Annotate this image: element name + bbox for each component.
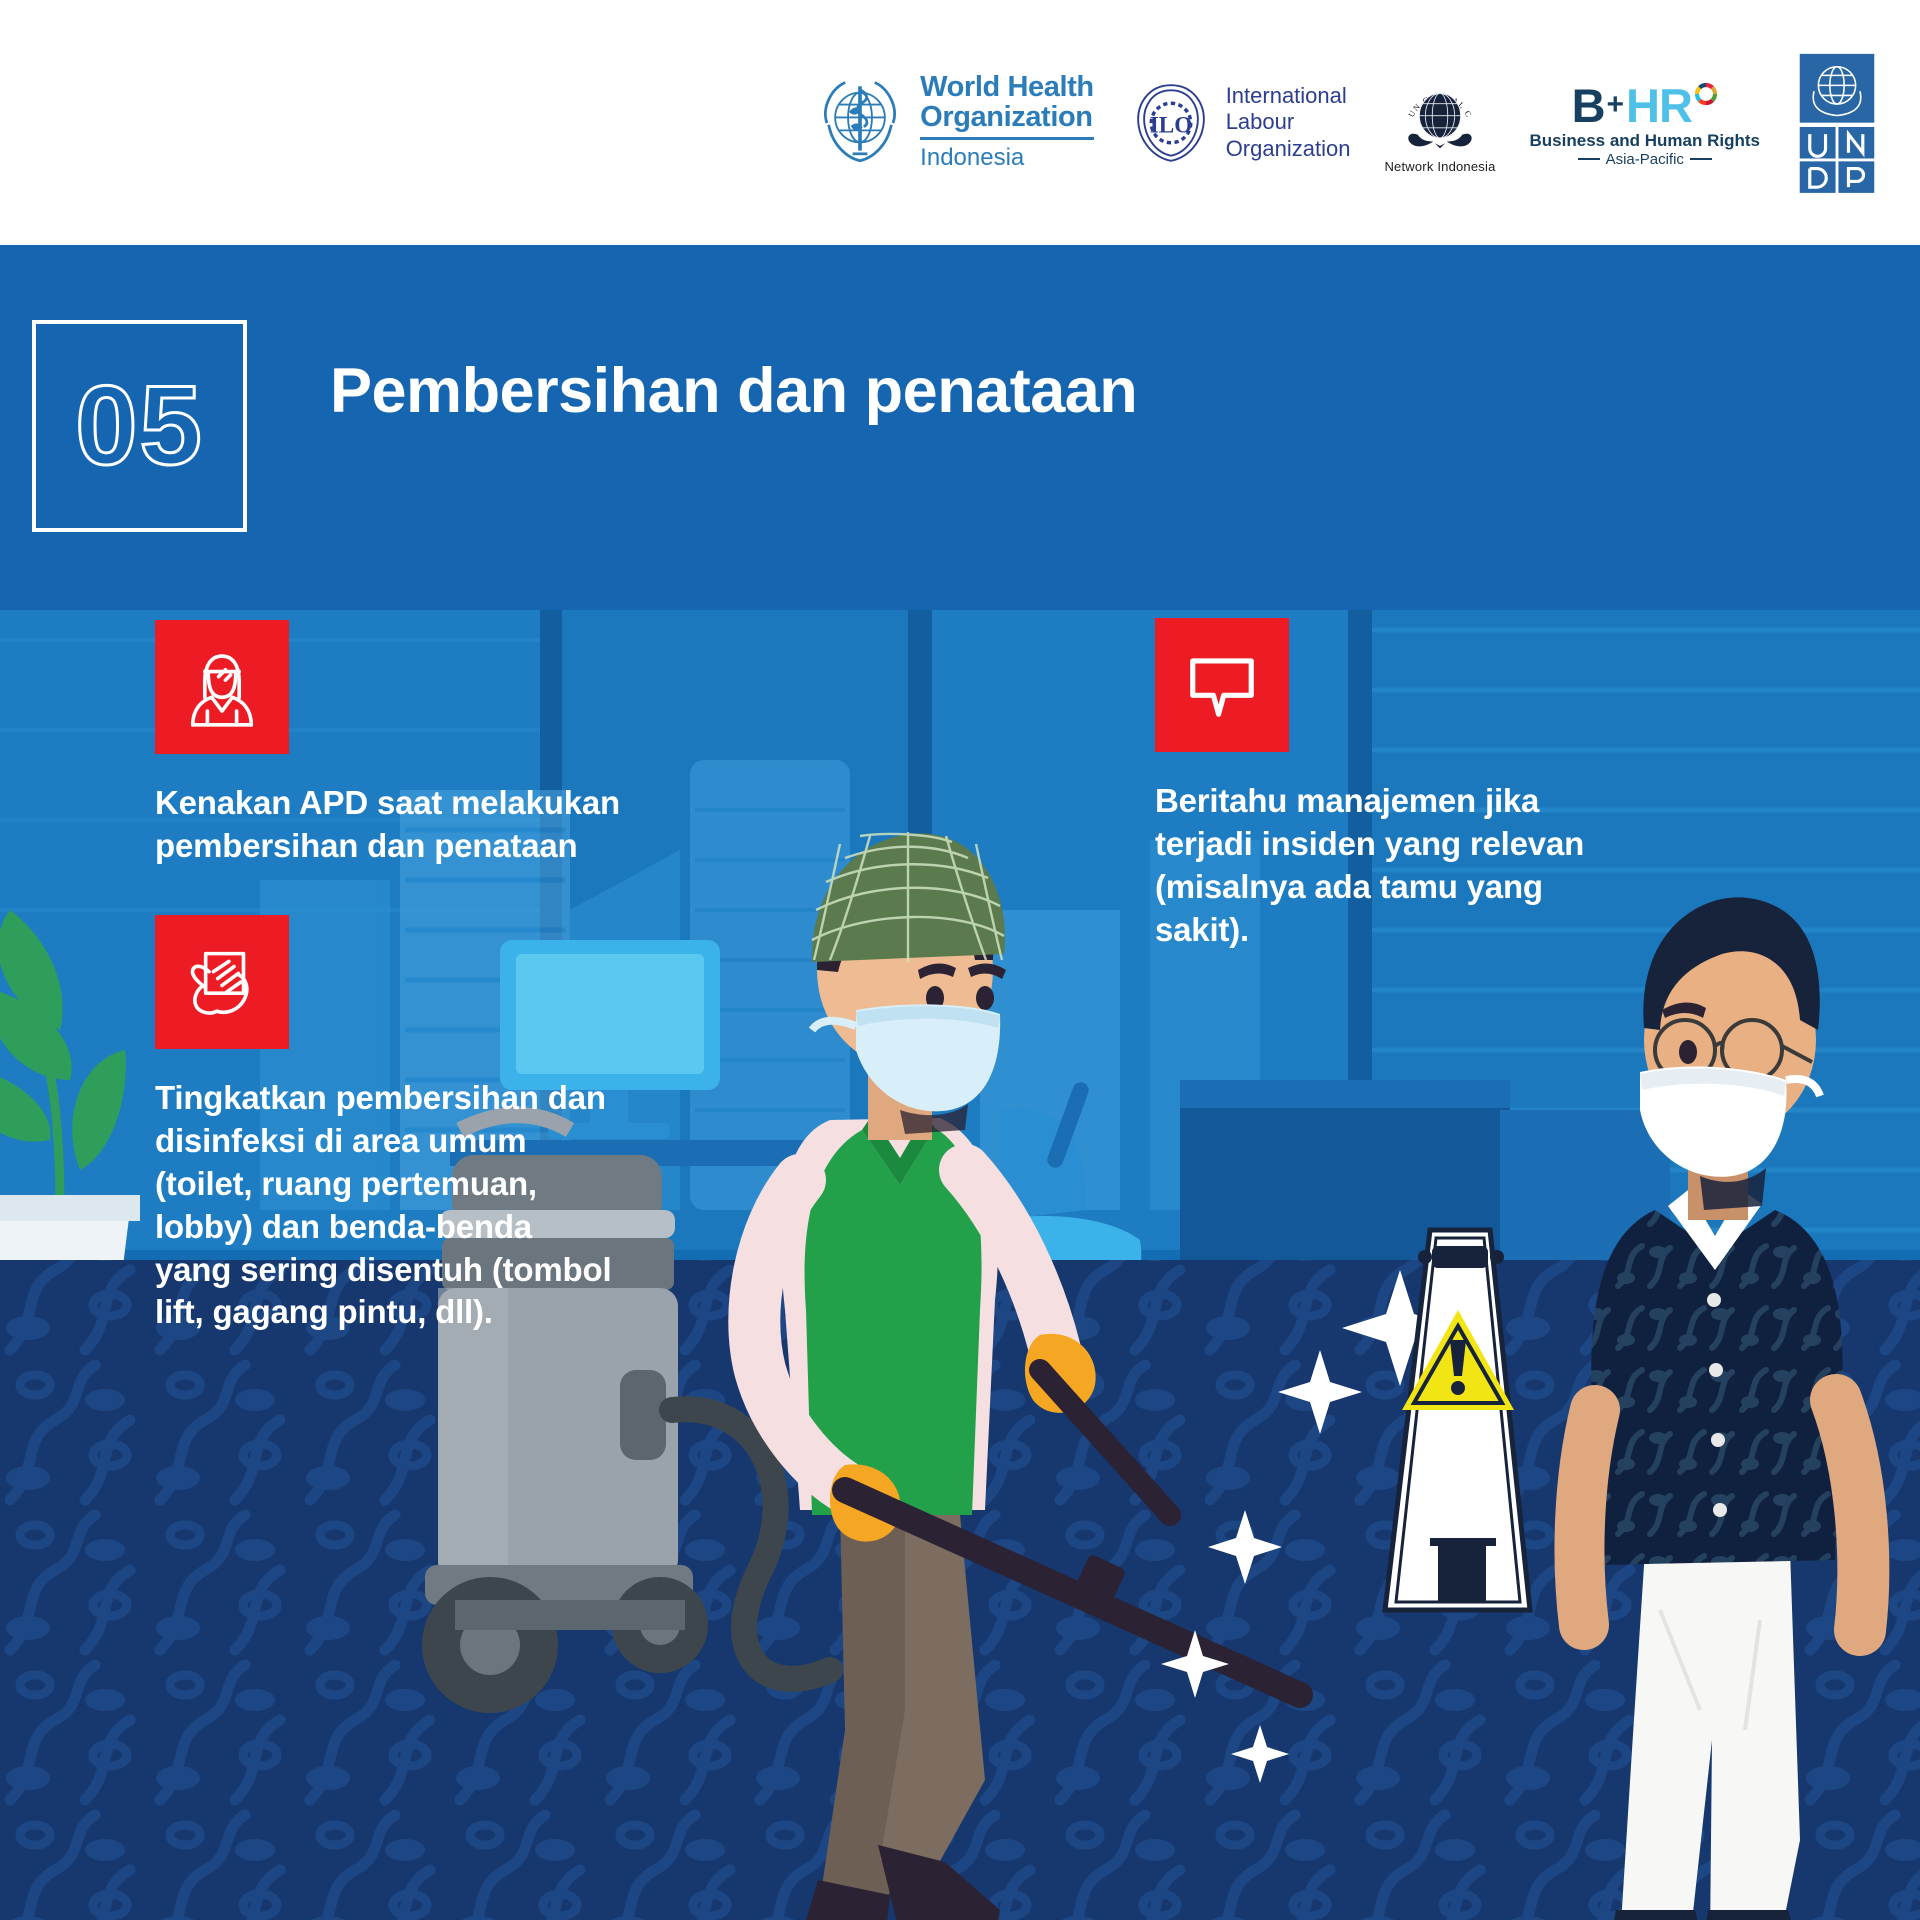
- sdg-wheel-icon: [1694, 82, 1718, 106]
- who-divider: [920, 137, 1094, 140]
- tip-cleaning-text: Tingkatkan pembersihan dan disinfeksi di…: [155, 1077, 615, 1334]
- tip-cleaning: Tingkatkan pembersihan dan disinfeksi di…: [155, 915, 615, 1334]
- svg-text:ILO: ILO: [1149, 112, 1192, 138]
- poster-root: World Health Organization Indonesia ILO: [0, 0, 1920, 1920]
- bhr-plus-sign: +: [1607, 88, 1625, 122]
- tip-ppe-text: Kenakan APD saat melakukan pembersihan d…: [155, 782, 695, 868]
- speech-bubble-icon: [1155, 618, 1289, 752]
- tip-report-incident: Beritahu manajemen jika terjadi insiden …: [1155, 618, 1625, 952]
- tip-ppe: Kenakan APD saat melakukan pembersihan d…: [155, 620, 695, 868]
- bhr-letter-b: B: [1572, 78, 1605, 133]
- ilo-name-line2: Labour: [1226, 109, 1351, 135]
- logo-business-and-human-rights: B + HR: [1530, 78, 1760, 168]
- ilo-name-line1: International: [1226, 83, 1351, 109]
- logo-undp: [1794, 51, 1880, 194]
- un-global-compact-globe-icon: UN GLOBAL COMPACT: [1397, 71, 1483, 157]
- hand-wiping-cloth-icon: [155, 915, 289, 1049]
- logo-world-health-organization: World Health Organization Indonesia: [814, 73, 1094, 172]
- bhr-dash-left: [1578, 158, 1600, 160]
- bhr-dash-right: [1690, 158, 1712, 160]
- who-country-label: Indonesia: [920, 144, 1094, 172]
- bhr-region-label: Asia-Pacific: [1606, 151, 1684, 168]
- ungc-network-label: Network Indonesia: [1384, 159, 1495, 174]
- page-title: Pembersihan dan penataan: [330, 355, 1137, 427]
- bhr-region: Asia-Pacific: [1578, 151, 1712, 168]
- bhr-tagline: Business and Human Rights: [1530, 131, 1760, 151]
- who-name-line2: Organization: [920, 103, 1094, 133]
- logo-header: World Health Organization Indonesia ILO: [0, 0, 1920, 245]
- ilo-name-line3: Organization: [1226, 136, 1351, 162]
- ppe-face-shield-icon: [155, 620, 289, 754]
- section-number: 05: [75, 370, 204, 482]
- bhr-letters-hr: HR: [1626, 78, 1692, 133]
- tip-report-text: Beritahu manajemen jika terjadi insiden …: [1155, 780, 1625, 952]
- logo-international-labour-organization: ILO International Labour Organization: [1128, 78, 1351, 168]
- logo-un-global-compact: UN GLOBAL COMPACT Network Indonesia: [1384, 71, 1495, 174]
- section-number-box: 05: [32, 320, 247, 532]
- who-emblem-icon: [814, 75, 906, 171]
- who-name-line1: World Health: [920, 73, 1094, 103]
- ilo-emblem-icon: ILO: [1128, 78, 1214, 168]
